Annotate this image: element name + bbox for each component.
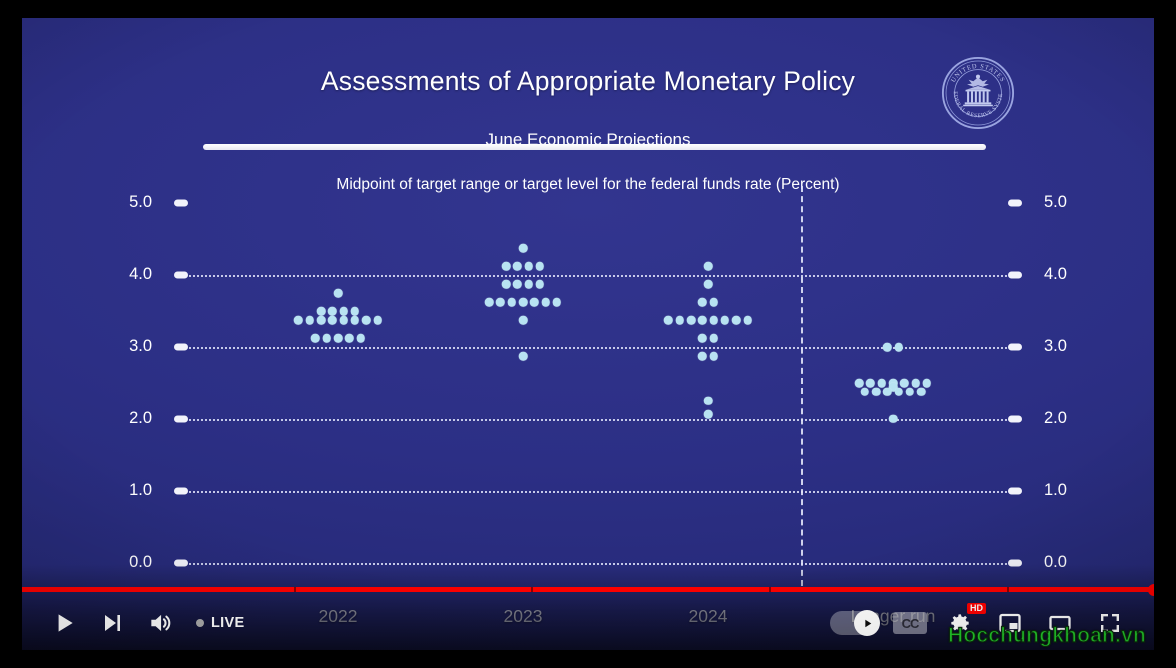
chapter-marker xyxy=(1007,587,1009,592)
y-axis-label-right: 3.0 xyxy=(1044,337,1096,356)
axis-tick-left xyxy=(174,272,188,279)
dot-marker xyxy=(513,280,522,289)
dot-marker xyxy=(311,334,320,343)
dot-marker xyxy=(519,298,528,307)
y-axis-label-left: 4.0 xyxy=(100,265,152,284)
video-frame[interactable]: Assessments of Appropriate Monetary Poli… xyxy=(22,18,1154,650)
y-axis-label-left: 5.0 xyxy=(100,193,152,212)
y-axis-label-right: 1.0 xyxy=(1044,481,1096,500)
dot-marker xyxy=(356,334,365,343)
dot-marker xyxy=(855,379,864,388)
y-axis-label-left: 1.0 xyxy=(100,481,152,500)
dot-marker xyxy=(496,298,505,307)
site-watermark: Hocchungkhoan.vn xyxy=(948,624,1146,648)
progress-scrubber-handle[interactable] xyxy=(1148,584,1154,596)
dot-marker xyxy=(373,316,382,325)
dot-marker xyxy=(536,262,545,271)
y-axis-label-left: 3.0 xyxy=(100,337,152,356)
dot-marker xyxy=(861,388,870,397)
next-video-button[interactable] xyxy=(90,601,134,645)
dot-plot-chart: 0.00.01.01.02.02.03.03.04.04.05.05.0 xyxy=(178,178,1018,588)
dot-marker xyxy=(709,352,718,361)
dot-marker xyxy=(553,298,562,307)
dot-marker xyxy=(872,388,881,397)
dot-marker xyxy=(732,316,741,325)
dot-marker xyxy=(889,415,898,424)
dot-marker xyxy=(704,410,713,419)
dot-marker xyxy=(687,316,696,325)
live-indicator[interactable]: LIVE xyxy=(186,601,254,645)
dot-marker xyxy=(676,316,685,325)
chapter-marker xyxy=(769,587,771,592)
axis-tick-right xyxy=(1008,487,1022,494)
dot-marker xyxy=(317,307,326,316)
dot-marker xyxy=(883,343,892,352)
dot-marker xyxy=(502,262,511,271)
dot-marker xyxy=(513,262,522,271)
y-axis-label-right: 0.0 xyxy=(1044,553,1096,572)
dot-marker xyxy=(334,334,343,343)
dot-marker xyxy=(294,316,303,325)
quality-hd-badge: HD xyxy=(967,603,986,614)
dot-marker xyxy=(698,352,707,361)
axis-tick-right xyxy=(1008,344,1022,351)
dot-marker xyxy=(877,379,886,388)
play-button[interactable] xyxy=(42,601,86,645)
dot-marker xyxy=(704,262,713,271)
dot-marker xyxy=(743,316,752,325)
dot-marker xyxy=(322,334,331,343)
cc-icon: CC xyxy=(893,612,927,634)
dot-marker xyxy=(317,316,326,325)
axis-tick-left xyxy=(174,559,188,566)
dot-marker xyxy=(339,316,348,325)
title-divider xyxy=(203,144,986,150)
dot-marker xyxy=(530,298,539,307)
gridline xyxy=(178,275,1018,277)
dot-marker xyxy=(704,397,713,406)
axis-tick-right xyxy=(1008,415,1022,422)
axis-tick-right xyxy=(1008,559,1022,566)
axis-tick-left xyxy=(174,487,188,494)
longer-run-divider xyxy=(801,186,803,586)
dot-marker xyxy=(900,379,909,388)
axis-tick-right xyxy=(1008,272,1022,279)
y-axis-label-right: 2.0 xyxy=(1044,409,1096,428)
progress-bar-played xyxy=(22,587,1154,592)
dot-marker xyxy=(306,316,315,325)
dot-marker xyxy=(709,334,718,343)
dot-marker xyxy=(721,316,730,325)
dot-marker xyxy=(507,298,516,307)
federal-reserve-seal-icon: UNITED STATES FEDERAL RESERVE SYSTEM xyxy=(939,54,1017,132)
dot-marker xyxy=(485,298,494,307)
dot-marker xyxy=(866,379,875,388)
y-axis-label-right: 5.0 xyxy=(1044,193,1096,212)
dot-marker xyxy=(664,316,673,325)
axis-tick-right xyxy=(1008,200,1022,207)
dot-marker xyxy=(519,352,528,361)
screen: Assessments of Appropriate Monetary Poli… xyxy=(0,0,1176,668)
chapter-marker xyxy=(531,587,533,592)
dot-marker xyxy=(519,316,528,325)
live-status-dot xyxy=(196,619,204,627)
dot-marker xyxy=(911,379,920,388)
dot-marker xyxy=(536,280,545,289)
volume-button[interactable] xyxy=(138,601,182,645)
y-axis-label-left: 2.0 xyxy=(100,409,152,428)
gridline xyxy=(178,491,1018,493)
dot-marker xyxy=(709,316,718,325)
dot-marker xyxy=(883,388,892,397)
autoplay-knob xyxy=(854,610,880,636)
subtitles-button[interactable]: CC xyxy=(888,601,932,645)
y-axis-label-left: 0.0 xyxy=(100,553,152,572)
dot-marker xyxy=(698,298,707,307)
gridline xyxy=(178,563,1018,565)
dot-marker xyxy=(345,334,354,343)
chapter-marker xyxy=(294,587,296,592)
dot-marker xyxy=(709,298,718,307)
axis-tick-left xyxy=(174,344,188,351)
dot-marker xyxy=(339,307,348,316)
dot-marker xyxy=(894,343,903,352)
dot-marker xyxy=(502,280,511,289)
dot-marker xyxy=(906,388,915,397)
dot-marker xyxy=(704,280,713,289)
dot-marker xyxy=(524,262,533,271)
dot-marker xyxy=(923,379,932,388)
progress-bar[interactable] xyxy=(22,587,1154,592)
dot-marker xyxy=(334,289,343,298)
dot-marker xyxy=(519,244,528,253)
dot-marker xyxy=(894,388,903,397)
live-label: LIVE xyxy=(211,615,244,631)
dot-marker xyxy=(328,316,337,325)
axis-tick-left xyxy=(174,415,188,422)
dot-marker xyxy=(351,316,360,325)
dot-marker xyxy=(328,307,337,316)
dot-marker xyxy=(698,334,707,343)
gridline xyxy=(178,347,1018,349)
dot-marker xyxy=(362,316,371,325)
dot-marker xyxy=(541,298,550,307)
dot-marker xyxy=(524,280,533,289)
y-axis-label-right: 4.0 xyxy=(1044,265,1096,284)
dot-marker xyxy=(698,316,707,325)
dot-marker xyxy=(351,307,360,316)
dot-marker xyxy=(917,388,926,397)
autoplay-toggle[interactable] xyxy=(830,611,878,635)
axis-tick-left xyxy=(174,200,188,207)
